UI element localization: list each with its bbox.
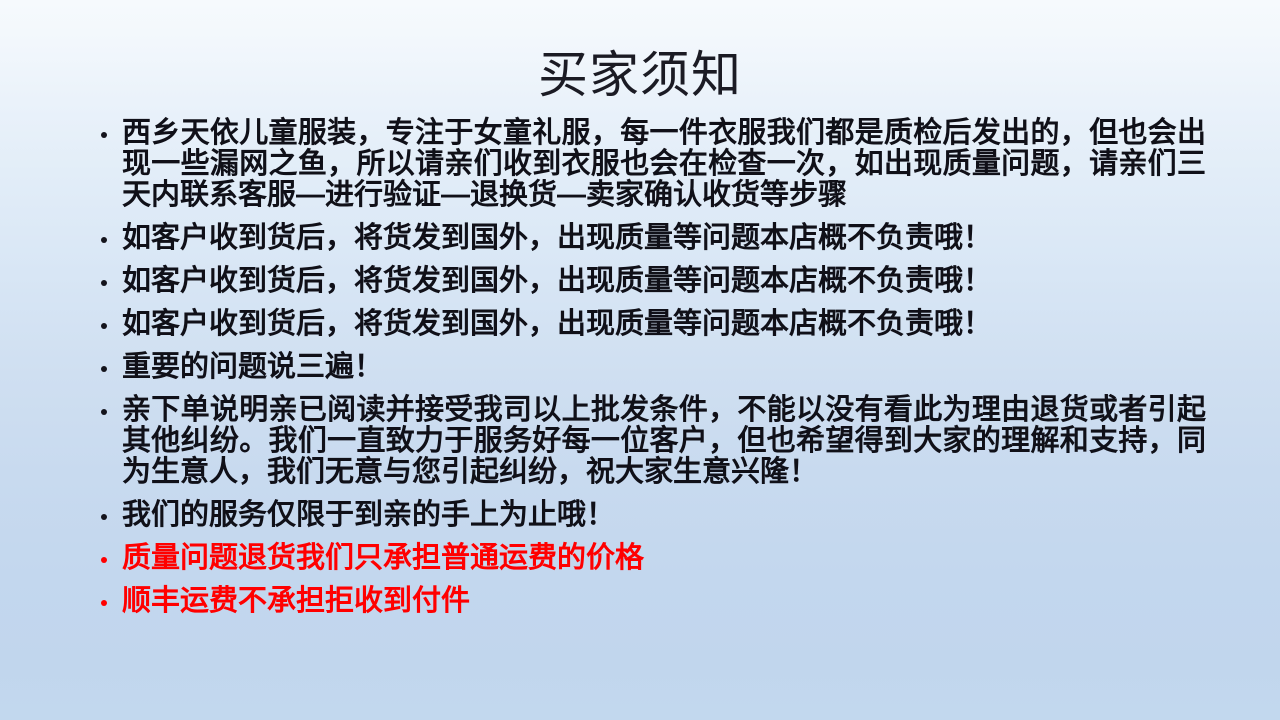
- list-item-text: 如客户收到货后，将货发到国外，出现质量等问题本店概不负责哦！: [122, 223, 1206, 254]
- list-item-text: 顺丰运费不承担拒收到付件: [122, 586, 1206, 617]
- list-item: 西乡天依儿童服装，专注于女童礼服，每一件衣服我们都是质检后发出的，但也会出现一些…: [96, 118, 1206, 211]
- list-item: 我们的服务仅限于到亲的手上为止哦！: [96, 500, 1206, 531]
- list-item-text: 如客户收到货后，将货发到国外，出现质量等问题本店概不负责哦！: [122, 266, 1206, 297]
- list-item: 重要的问题说三遍！: [96, 352, 1206, 383]
- list-item: 亲下单说明亲已阅读并接受我司以上批发条件，不能以没有看此为理由退货或者引起其他纠…: [96, 395, 1206, 488]
- list-item-text: 亲下单说明亲已阅读并接受我司以上批发条件，不能以没有看此为理由退货或者引起其他纠…: [122, 395, 1206, 488]
- list-item-text: 西乡天依儿童服装，专注于女童礼服，每一件衣服我们都是质检后发出的，但也会出现一些…: [122, 118, 1206, 211]
- list-item: 如客户收到货后，将货发到国外，出现质量等问题本店概不负责哦！: [96, 309, 1206, 340]
- list-item-text: 重要的问题说三遍！: [122, 352, 1206, 383]
- list-item-highlight: 顺丰运费不承担拒收到付件: [96, 586, 1206, 617]
- list-item-highlight: 质量问题退货我们只承担普通运费的价格: [96, 543, 1206, 574]
- list-item: 如客户收到货后，将货发到国外，出现质量等问题本店概不负责哦！: [96, 266, 1206, 297]
- list-item-text: 我们的服务仅限于到亲的手上为止哦！: [122, 500, 1206, 531]
- list-item-text: 质量问题退货我们只承担普通运费的价格: [122, 543, 1206, 574]
- slide-canvas: 买家须知 西乡天依儿童服装，专注于女童礼服，每一件衣服我们都是质检后发出的，但也…: [0, 0, 1280, 720]
- list-item-text: 如客户收到货后，将货发到国外，出现质量等问题本店概不负责哦！: [122, 309, 1206, 340]
- list-item: 如客户收到货后，将货发到国外，出现质量等问题本店概不负责哦！: [96, 223, 1206, 254]
- buyer-notice-list: 西乡天依儿童服装，专注于女童礼服，每一件衣服我们都是质检后发出的，但也会出现一些…: [96, 118, 1206, 617]
- page-title: 买家须知: [0, 44, 1280, 106]
